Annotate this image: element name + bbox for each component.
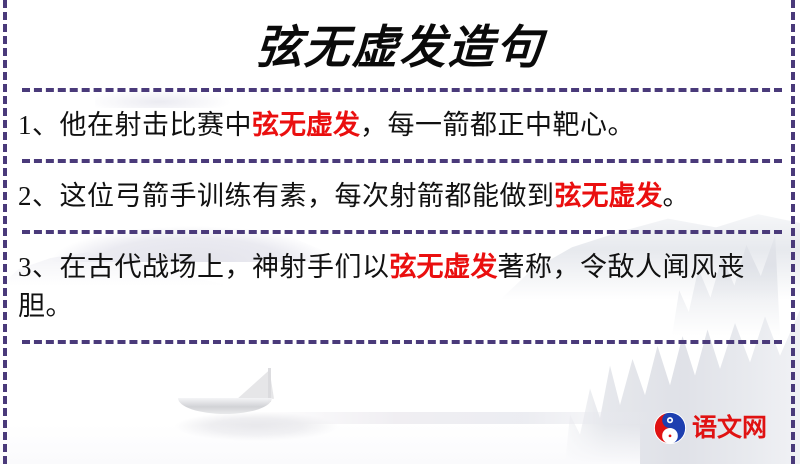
example-sentence-1: 1、他在射击比赛中弦无虚发，每一箭都正中靶心。 [0,92,800,159]
sentence-text-2b: 。 [663,181,691,211]
example-sentence-2: 2、这位弓箭手训练有素，每次射箭都能做到弦无虚发。 [0,163,800,230]
sentence-number-1: 1、 [18,110,60,140]
watermark-boat-sail [236,370,274,400]
document-body: 弦无虚发造句 1、他在射击比赛中弦无虚发，每一箭都正中靶心。 2、这位弓箭手训练… [0,0,800,344]
watermark-boat-mast [268,368,271,402]
site-watermark: 语文网 [653,411,767,445]
sentence-text-2a: 这位弓箭手训练有素，每次射箭都能做到 [60,181,555,211]
sentence-text-3a: 在古代战场上，神射手们以 [60,252,390,282]
sentence-number-2: 2、 [18,181,60,211]
document-page: 弦无虚发造句 1、他在射击比赛中弦无虚发，每一箭都正中靶心。 2、这位弓箭手训练… [0,0,800,464]
watermark-water [250,412,670,424]
sentence-text-1a: 他在射击比赛中 [60,110,253,140]
watermark-boat-hull [178,398,272,414]
page-border-right [791,0,795,464]
site-watermark-label: 语文网 [692,416,767,441]
example-sentence-3: 3、在古代战场上，神射手们以弦无虚发著称，令敌人闻风丧胆。 [0,234,800,340]
watermark-bottom-haze [0,424,640,464]
page-title: 弦无虚发造句 [0,0,800,88]
watermark-boat-reflection [160,398,370,444]
sentence-number-3: 3、 [18,252,60,282]
sentence-text-1b: ，每一箭都正中靶心。 [360,110,635,140]
keyword-highlight-2: 弦无虚发 [555,181,663,211]
keyword-highlight-3: 弦无虚发 [390,252,498,282]
divider-4 [22,340,782,344]
keyword-highlight-1: 弦无虚发 [252,110,360,140]
page-border-left [3,0,7,464]
yinyang-circle-logo-icon [653,411,687,445]
